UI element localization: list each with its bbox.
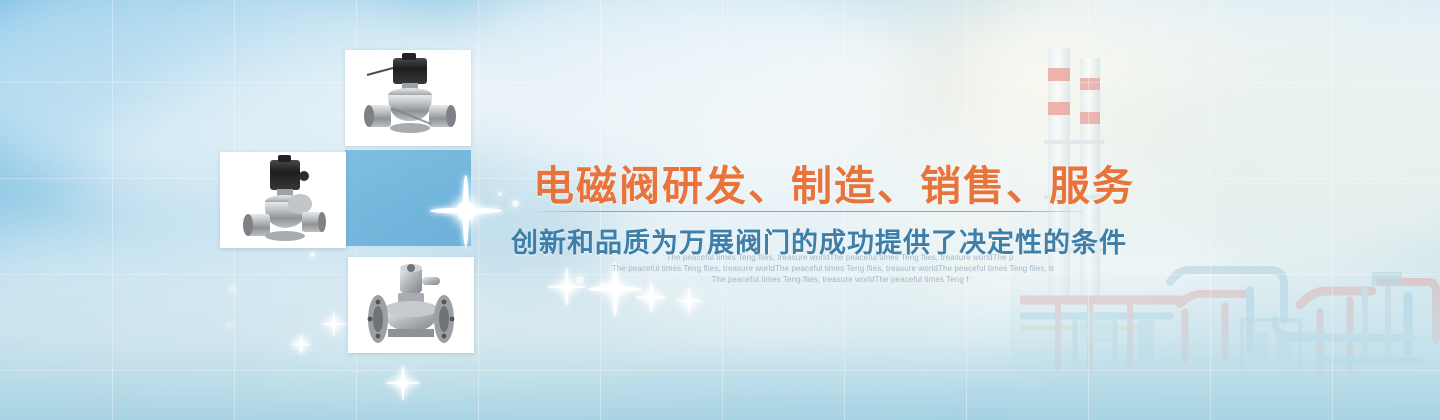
blurb-line-3: The peaceful times Teng flies, treasure … [560,274,1120,285]
solenoid-valve-threaded-inline-icon [345,50,471,146]
title-divider [538,211,1083,212]
solenoid-valve-flanged-icon [348,257,474,353]
product-thumbnail-1[interactable] [345,50,471,146]
hero-banner: 电磁阀研发、制造、销售、服务 创新和品质为万展阀门的成功提供了决定性的条件 Th… [0,0,1440,420]
blurb-line-2: The peaceful times Teng flies, treasure … [546,263,1120,274]
page-title: 电磁阀研发、制造、销售、服务 [533,152,1135,212]
product-thumbnail-2[interactable] [220,152,346,248]
product-thumbnail-3[interactable] [348,257,474,353]
solenoid-valve-angled-icon [220,152,346,248]
blurb-line-1: The peaceful times Teng flies, treasure … [560,252,1120,263]
blurb-text: The peaceful times Teng flies, treasure … [560,252,1120,285]
accent-tile-blue [345,150,471,246]
